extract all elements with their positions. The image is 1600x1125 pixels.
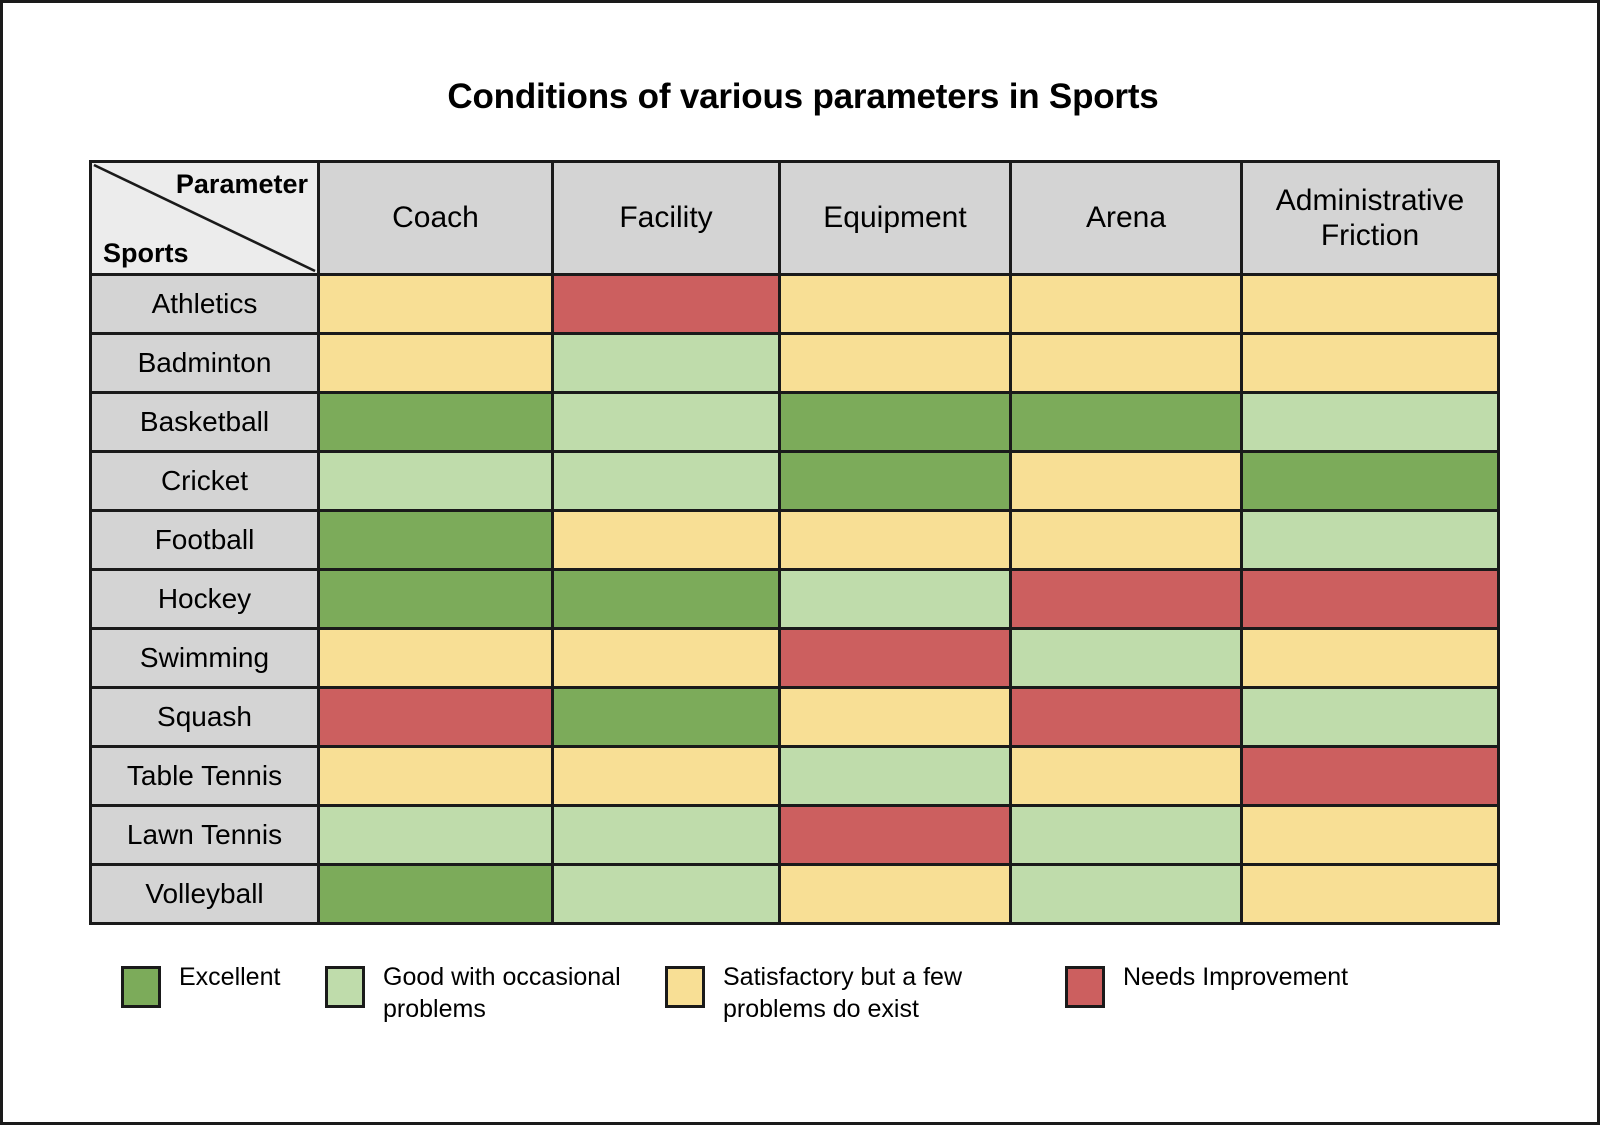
heatmap-cell-cricket-coach — [319, 452, 553, 511]
corner-axis-cell: Parameter Sports — [91, 162, 319, 275]
legend-swatch-needs-improvement-icon — [1065, 966, 1105, 1008]
heatmap-cell-basketball-facility — [553, 393, 780, 452]
legend-item-needs-improvement: Needs Improvement — [1065, 961, 1365, 1008]
heatmap-cell-swimming-facility — [553, 629, 780, 688]
row-label-swimming: Swimming — [91, 629, 319, 688]
heatmap-cell-table-tennis-coach — [319, 747, 553, 806]
row-label-athletics: Athletics — [91, 275, 319, 334]
heatmap-cell-table-tennis-arena — [1011, 747, 1242, 806]
heatmap-cell-volleyball-administrative-friction — [1242, 865, 1499, 924]
table-row: Cricket — [91, 452, 1499, 511]
chart-page: Conditions of various parameters in Spor… — [0, 0, 1600, 1125]
legend-swatch-excellent-icon — [121, 966, 161, 1008]
heatmap-cell-hockey-administrative-friction — [1242, 570, 1499, 629]
page-title: Conditions of various parameters in Spor… — [3, 77, 1600, 117]
row-label-hockey: Hockey — [91, 570, 319, 629]
heatmap-cell-squash-facility — [553, 688, 780, 747]
heatmap-cell-football-administrative-friction — [1242, 511, 1499, 570]
heatmap-cell-athletics-coach — [319, 275, 553, 334]
table-row: Badminton — [91, 334, 1499, 393]
heatmap-cell-squash-coach — [319, 688, 553, 747]
table-row: Athletics — [91, 275, 1499, 334]
heatmap-cell-swimming-administrative-friction — [1242, 629, 1499, 688]
heatmap-cell-volleyball-arena — [1011, 865, 1242, 924]
heatmap-cell-squash-arena — [1011, 688, 1242, 747]
legend-swatch-good-icon — [325, 966, 365, 1008]
heatmap-cell-football-equipment — [780, 511, 1011, 570]
table-row: Squash — [91, 688, 1499, 747]
table-row: Swimming — [91, 629, 1499, 688]
heatmap-cell-basketball-equipment — [780, 393, 1011, 452]
table-row: Basketball — [91, 393, 1499, 452]
heatmap-cell-table-tennis-facility — [553, 747, 780, 806]
legend-swatch-satisfactory-icon — [665, 966, 705, 1008]
heatmap-cell-lawn-tennis-administrative-friction — [1242, 806, 1499, 865]
heatmap-cell-lawn-tennis-arena — [1011, 806, 1242, 865]
heatmap-cell-table-tennis-administrative-friction — [1242, 747, 1499, 806]
row-label-badminton: Badminton — [91, 334, 319, 393]
heatmap-cell-basketball-administrative-friction — [1242, 393, 1499, 452]
legend-item-excellent: Excellent — [121, 961, 325, 1008]
heatmap-cell-athletics-administrative-friction — [1242, 275, 1499, 334]
heatmap-cell-badminton-facility — [553, 334, 780, 393]
heatmap-cell-cricket-facility — [553, 452, 780, 511]
heatmap-cell-hockey-arena — [1011, 570, 1242, 629]
heatmap-cell-cricket-equipment — [780, 452, 1011, 511]
heatmap-cell-hockey-coach — [319, 570, 553, 629]
row-label-volleyball: Volleyball — [91, 865, 319, 924]
heatmap-cell-squash-equipment — [780, 688, 1011, 747]
column-header-equipment: Equipment — [780, 162, 1011, 275]
table-row: Football — [91, 511, 1499, 570]
legend-label: Good with occasional problems — [383, 961, 655, 1025]
row-label-basketball: Basketball — [91, 393, 319, 452]
heatmap-cell-athletics-arena — [1011, 275, 1242, 334]
column-header-administrative-friction: Administrative Friction — [1242, 162, 1499, 275]
heatmap-cell-basketball-arena — [1011, 393, 1242, 452]
column-header-coach: Coach — [319, 162, 553, 275]
heatmap-cell-basketball-coach — [319, 393, 553, 452]
legend-item-good: Good with occasional problems — [325, 961, 665, 1025]
column-header-arena: Arena — [1011, 162, 1242, 275]
heatmap-cell-swimming-coach — [319, 629, 553, 688]
table-row: Lawn Tennis — [91, 806, 1499, 865]
conditions-matrix-table: Parameter Sports Coach Facility Equipmen… — [89, 160, 1500, 925]
heatmap-cell-cricket-arena — [1011, 452, 1242, 511]
heatmap-cell-volleyball-equipment — [780, 865, 1011, 924]
legend: ExcellentGood with occasional problemsSa… — [121, 961, 1521, 1025]
row-label-squash: Squash — [91, 688, 319, 747]
heatmap-cell-squash-administrative-friction — [1242, 688, 1499, 747]
heatmap-cell-lawn-tennis-coach — [319, 806, 553, 865]
row-label-lawn-tennis: Lawn Tennis — [91, 806, 319, 865]
heatmap-cell-volleyball-coach — [319, 865, 553, 924]
table-row: Table Tennis — [91, 747, 1499, 806]
corner-column-axis-label: Parameter — [176, 170, 308, 198]
legend-label: Needs Improvement — [1123, 961, 1348, 993]
heatmap-cell-football-facility — [553, 511, 780, 570]
heatmap-cell-table-tennis-equipment — [780, 747, 1011, 806]
table-header: Parameter Sports Coach Facility Equipmen… — [91, 162, 1499, 275]
table-body: AthleticsBadmintonBasketballCricketFootb… — [91, 275, 1499, 924]
table-row: Volleyball — [91, 865, 1499, 924]
heatmap-cell-lawn-tennis-facility — [553, 806, 780, 865]
heatmap-cell-swimming-arena — [1011, 629, 1242, 688]
row-label-cricket: Cricket — [91, 452, 319, 511]
heatmap-cell-football-coach — [319, 511, 553, 570]
row-label-football: Football — [91, 511, 319, 570]
heatmap-cell-badminton-equipment — [780, 334, 1011, 393]
heatmap-cell-athletics-equipment — [780, 275, 1011, 334]
heatmap-cell-badminton-arena — [1011, 334, 1242, 393]
table-row: Hockey — [91, 570, 1499, 629]
header-row: Parameter Sports Coach Facility Equipmen… — [91, 162, 1499, 275]
legend-item-satisfactory: Satisfactory but a few problems do exist — [665, 961, 1065, 1025]
row-label-table-tennis: Table Tennis — [91, 747, 319, 806]
heatmap-cell-hockey-facility — [553, 570, 780, 629]
heatmap-cell-badminton-coach — [319, 334, 553, 393]
legend-label: Satisfactory but a few problems do exist — [723, 961, 995, 1025]
heatmap-cell-badminton-administrative-friction — [1242, 334, 1499, 393]
heatmap-cell-cricket-administrative-friction — [1242, 452, 1499, 511]
heatmap-cell-hockey-equipment — [780, 570, 1011, 629]
heatmap-cell-volleyball-facility — [553, 865, 780, 924]
heatmap-cell-football-arena — [1011, 511, 1242, 570]
corner-row-axis-label: Sports — [103, 239, 189, 267]
legend-label: Excellent — [179, 961, 280, 993]
heatmap-cell-swimming-equipment — [780, 629, 1011, 688]
column-header-facility: Facility — [553, 162, 780, 275]
heatmap-cell-lawn-tennis-equipment — [780, 806, 1011, 865]
heatmap-cell-athletics-facility — [553, 275, 780, 334]
